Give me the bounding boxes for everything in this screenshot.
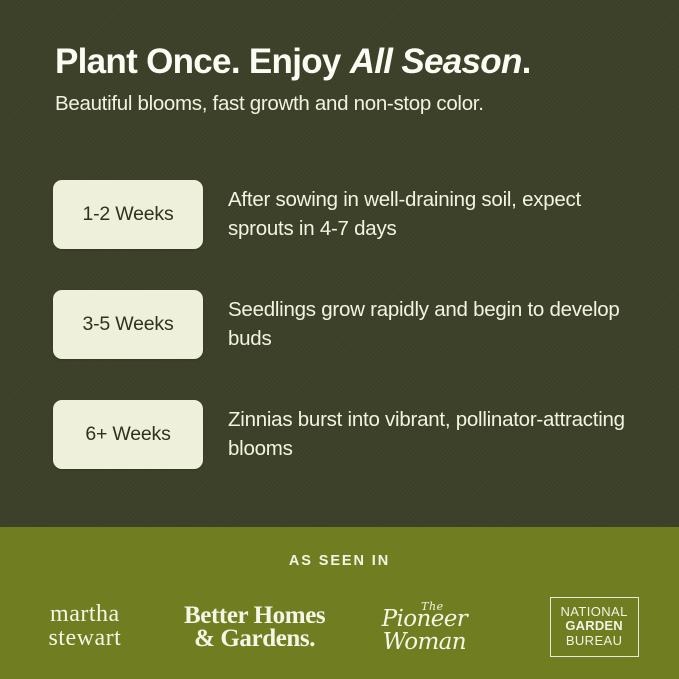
step-duration-badge: 3-5 Weeks xyxy=(53,290,203,359)
better-homes-gardens-wordmark: Better Homes & Gardens. xyxy=(184,604,325,651)
martha-stewart-line1: martha xyxy=(50,601,120,627)
logo-better-homes-and-gardens: Better Homes & Gardens. xyxy=(170,589,340,665)
pioneer-woman-main: Pioneer Woman xyxy=(340,608,510,654)
ngb-line3: BUREAU xyxy=(566,633,623,648)
headline-emphasis-text: All Season xyxy=(350,42,522,81)
logo-national-garden-bureau: NATIONAL GARDEN BUREAU xyxy=(509,589,679,665)
promo-poster: Plant Once. Enjoy All Season. Beautiful … xyxy=(0,0,679,679)
timeline-step: 6+ Weeks Zinnias burst into vibrant, pol… xyxy=(53,400,649,469)
step-description: Zinnias burst into vibrant, pollinator-a… xyxy=(228,405,649,463)
step-description: After sowing in well-draining soil, expe… xyxy=(228,185,649,243)
step-duration-badge: 6+ Weeks xyxy=(53,400,203,469)
ngb-line2: GARDEN xyxy=(565,618,623,633)
page-subtitle: Beautiful blooms, fast growth and non-st… xyxy=(55,92,639,117)
as-seen-in-label: AS SEEN IN xyxy=(0,527,679,569)
step-description: Seedlings grow rapidly and begin to deve… xyxy=(228,295,649,353)
national-garden-bureau-wordmark: NATIONAL GARDEN BUREAU xyxy=(550,597,639,658)
headline-plain-text: Plant Once. Enjoy xyxy=(55,42,350,81)
step-duration-badge: 1-2 Weeks xyxy=(53,180,203,249)
ngb-line1: NATIONAL xyxy=(561,604,628,619)
timeline-step: 1-2 Weeks After sowing in well-draining … xyxy=(53,180,649,249)
as-seen-in-band: AS SEEN IN martha stewart Better Homes &… xyxy=(0,527,679,679)
martha-stewart-line2: stewart xyxy=(48,625,121,651)
header-block: Plant Once. Enjoy All Season. Beautiful … xyxy=(55,42,639,116)
pioneer-woman-wordmark: The Pioneer Woman xyxy=(340,601,510,654)
headline-end-punctuation: . xyxy=(522,42,531,81)
bhg-line2: & Gardens. xyxy=(194,625,315,652)
martha-stewart-wordmark: martha stewart xyxy=(48,603,121,650)
page-title: Plant Once. Enjoy All Season. xyxy=(55,42,639,83)
logo-the-pioneer-woman: The Pioneer Woman xyxy=(340,589,510,665)
press-logo-row: martha stewart Better Homes & Gardens. T… xyxy=(0,589,679,665)
timeline-step: 3-5 Weeks Seedlings grow rapidly and beg… xyxy=(53,290,649,359)
growth-timeline: 1-2 Weeks After sowing in well-draining … xyxy=(53,180,649,469)
logo-martha-stewart: martha stewart xyxy=(0,589,170,665)
